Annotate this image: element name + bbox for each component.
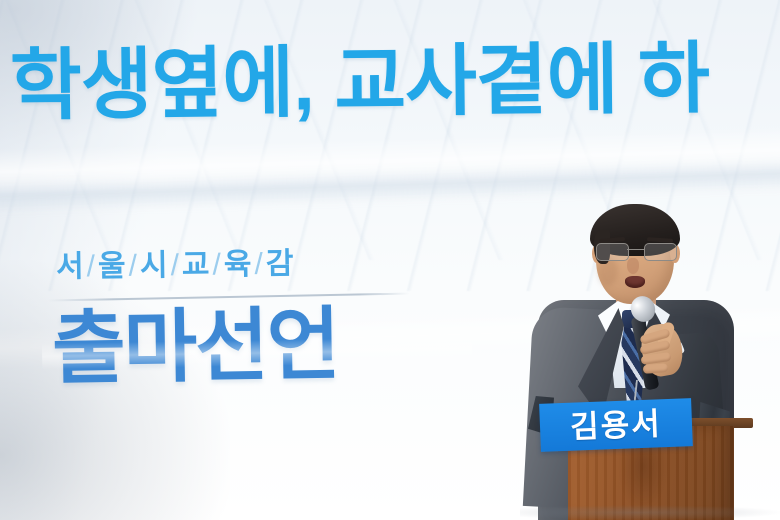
banner-subtitle: 서/울/시/교/육/감: [56, 238, 296, 285]
glasses-lens-right: [644, 243, 677, 261]
podium-floor-shadow: [520, 505, 780, 520]
subtitle-syllable-6: 감: [266, 247, 296, 280]
subtitle-separator-2: /: [127, 250, 140, 283]
subtitle-syllable-5: 육: [224, 248, 254, 281]
photo-scene: 학생옆에, 교사곁에 하 서/울/시/교/육/감 출마선언: [0, 0, 780, 520]
subtitle-syllable-1: 서: [56, 250, 86, 283]
subtitle-syllable-2: 울: [98, 250, 128, 283]
subtitle-separator-4: /: [211, 248, 224, 281]
banner-headline: 학생옆에, 교사곁에 하: [10, 37, 780, 124]
subtitle-syllable-4: 교: [182, 249, 212, 282]
subtitle-separator-3: /: [169, 249, 182, 282]
nameplate-text: 김용서: [570, 408, 663, 442]
speaker-figure: 김용서: [520, 196, 780, 520]
mouth-open-speaking: [625, 276, 645, 288]
banner-claim-text: 출마선언: [51, 303, 339, 391]
subtitle-syllable-3: 시: [140, 249, 170, 282]
glasses-bridge: [627, 249, 644, 250]
podium-nameplate: 김용서: [539, 398, 693, 452]
subtitle-separator-5: /: [253, 248, 266, 281]
finger-little: [643, 363, 669, 374]
glasses-lens-left: [596, 243, 629, 261]
nose: [627, 258, 639, 274]
glasses-icon: [594, 243, 678, 260]
claim-label: 출마선언: [51, 300, 339, 393]
subtitle-separator-1: /: [85, 250, 98, 283]
